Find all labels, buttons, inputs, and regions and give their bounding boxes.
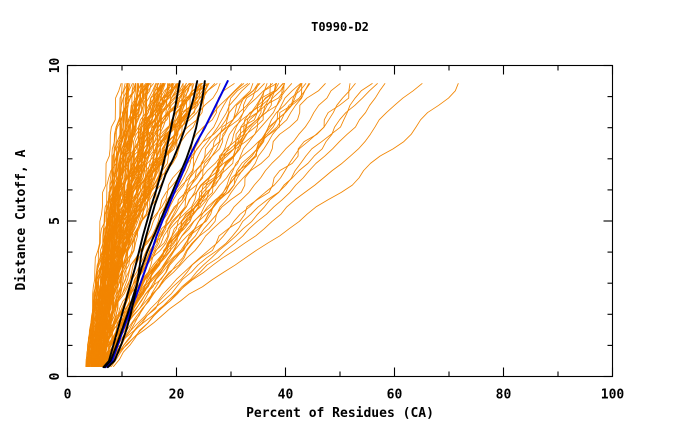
chart-title: T0990-D2 <box>311 20 369 34</box>
x-axis-label: Percent of Residues (CA) <box>246 406 434 421</box>
y-tick-label: 0 <box>48 372 63 380</box>
x-tick-label: 20 <box>169 388 185 403</box>
plot-canvas: T0990-D2 0204060801000510 Percent of Res… <box>0 0 680 440</box>
chart-figure: T0990-D2 0204060801000510 Percent of Res… <box>0 0 680 440</box>
y-axis-label: Distance Cutoff, A <box>14 149 29 290</box>
y-tick-label: 10 <box>48 58 63 74</box>
x-tick-label: 80 <box>496 388 512 403</box>
x-tick-label: 100 <box>601 388 625 403</box>
y-tick-label: 5 <box>48 217 63 225</box>
x-tick-label: 40 <box>278 388 294 403</box>
x-tick-label: 60 <box>387 388 403 403</box>
x-tick-label: 0 <box>64 388 72 403</box>
